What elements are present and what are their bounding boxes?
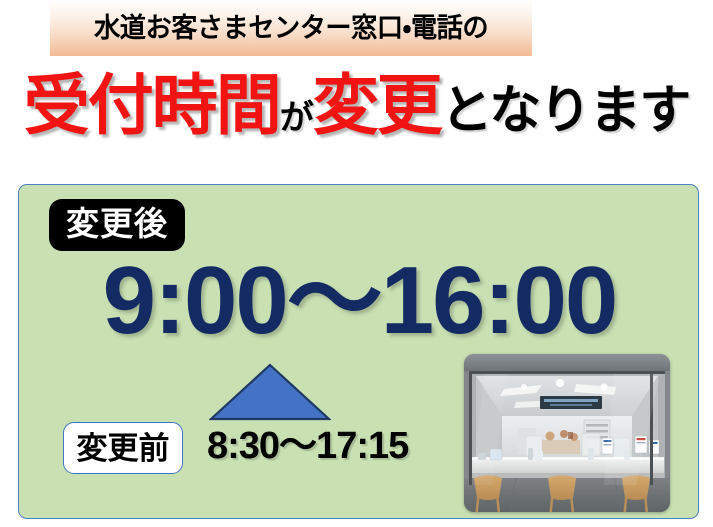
header-banner: 水道お客さまセンター窓口・電話の — [50, 0, 532, 56]
old-hours-value: 8:30〜17:15 — [207, 427, 408, 465]
badge-before-change: 変更前 — [63, 422, 183, 474]
headline-suffix: となります — [441, 85, 689, 137]
headline-change: 変更 — [313, 72, 441, 138]
new-hours-value: 9:00〜16:00 — [19, 253, 700, 349]
badge-after-change: 変更後 — [49, 199, 185, 251]
headline-particle-ga: が — [280, 101, 313, 135]
service-counter-photo — [464, 354, 670, 512]
schedule-panel: 変更後 9:00〜16:00 変更前 8:30〜17:15 — [18, 184, 699, 519]
main-headline: 受付時間 が 変更 となります — [0, 62, 713, 148]
headline-reception-hours: 受付時間 — [24, 72, 280, 138]
banner-title: 水道お客さまセンター窓口・電話の — [94, 6, 488, 45]
badge-before-label: 変更前 — [77, 433, 170, 464]
badge-after-label: 変更後 — [66, 209, 168, 242]
